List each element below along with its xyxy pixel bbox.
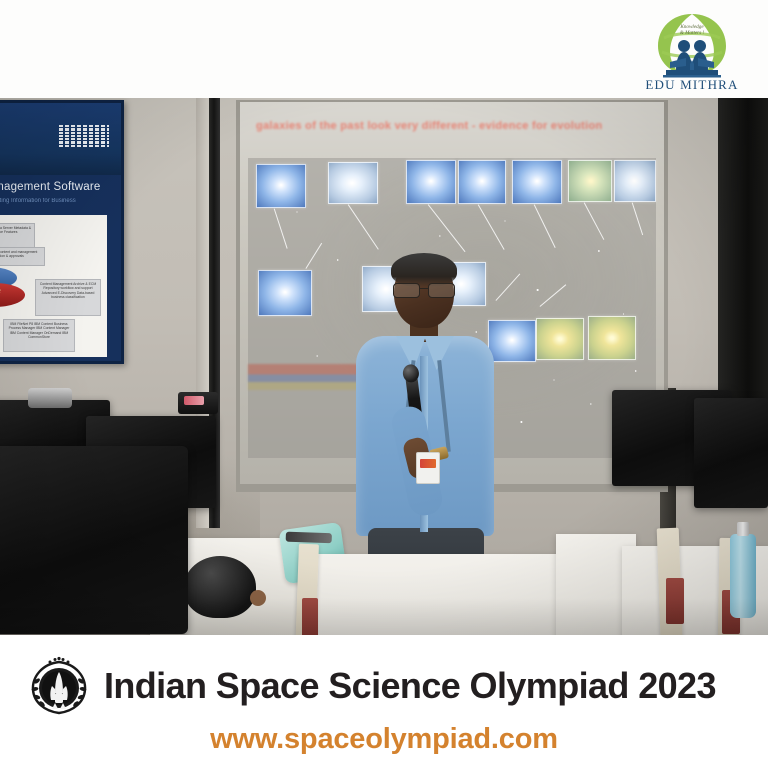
galaxy-thumbnail xyxy=(256,164,306,208)
event-photograph: Management Software Integrating Informat… xyxy=(0,98,768,635)
website-url[interactable]: www.spaceolympiad.com xyxy=(0,725,768,754)
header-band: Knowledge & Matters ! EDU MITHRA xyxy=(0,0,768,98)
glasses-icon xyxy=(391,283,457,296)
poster-subheading: Integrating Information for Business xyxy=(0,198,76,204)
galaxy-thumbnail xyxy=(512,160,562,204)
poster-box: Content Server Data Server Metadata & Go… xyxy=(0,223,35,248)
galaxy-thumbnail xyxy=(458,160,506,204)
page-title: Indian Space Science Olympiad 2023 xyxy=(104,668,716,704)
id-badge xyxy=(416,452,440,484)
galaxy-thumbnail xyxy=(258,270,312,316)
desk-panel xyxy=(300,554,560,635)
computer-monitor xyxy=(694,398,768,508)
poster-heading: Management Software xyxy=(0,181,101,193)
desk-accessory xyxy=(28,388,72,408)
footer-title-row: Indian Space Science Olympiad 2023 xyxy=(28,655,716,717)
galaxy-thumbnail xyxy=(488,320,536,362)
student-head xyxy=(184,556,256,618)
chair-cushion xyxy=(302,598,318,635)
computer-monitor xyxy=(0,446,188,634)
poster-box: IBM FileNet P8 IBM Content Business Proc… xyxy=(3,319,75,352)
desk-accessory xyxy=(178,392,218,414)
poster-cylinder-red xyxy=(0,283,25,307)
galaxy-thumbnail xyxy=(588,316,636,360)
poster-cylinder-label: Content xyxy=(0,289,1,295)
chair-cushion xyxy=(666,578,684,624)
galaxy-thumbnail xyxy=(614,160,656,202)
presenter-hair xyxy=(391,253,457,287)
logo-wordmark: EDU MITHRA xyxy=(646,77,738,92)
water-bottle xyxy=(730,534,756,618)
poster-box: Enterprise wide content and management i… xyxy=(0,247,45,266)
edu-mithra-logo: Knowledge & Matters ! EDU MITHRA xyxy=(646,8,738,92)
footer-banner: Indian Space Science Olympiad 2023 www.s… xyxy=(0,635,768,768)
poster-header xyxy=(0,103,121,175)
svg-text:& Matters !: & Matters ! xyxy=(680,30,705,36)
ibm-poster: Management Software Integrating Informat… xyxy=(0,100,124,364)
poster-diagram: Content Server Data Server Metadata & Go… xyxy=(0,215,107,357)
student-ear xyxy=(250,590,266,606)
slide-title: galaxies of the past look very different… xyxy=(256,118,648,135)
galaxy-thumbnail xyxy=(568,160,612,202)
poster-box: Content Management Archive & ECM Reposit… xyxy=(35,279,101,316)
isro-rocket-emblem-icon xyxy=(28,655,90,717)
galaxy-thumbnail xyxy=(536,318,584,360)
galaxy-thumbnail xyxy=(328,162,378,204)
slide-credit xyxy=(248,364,372,390)
galaxy-thumbnail xyxy=(406,160,456,204)
ibm-logo-icon xyxy=(59,125,109,147)
